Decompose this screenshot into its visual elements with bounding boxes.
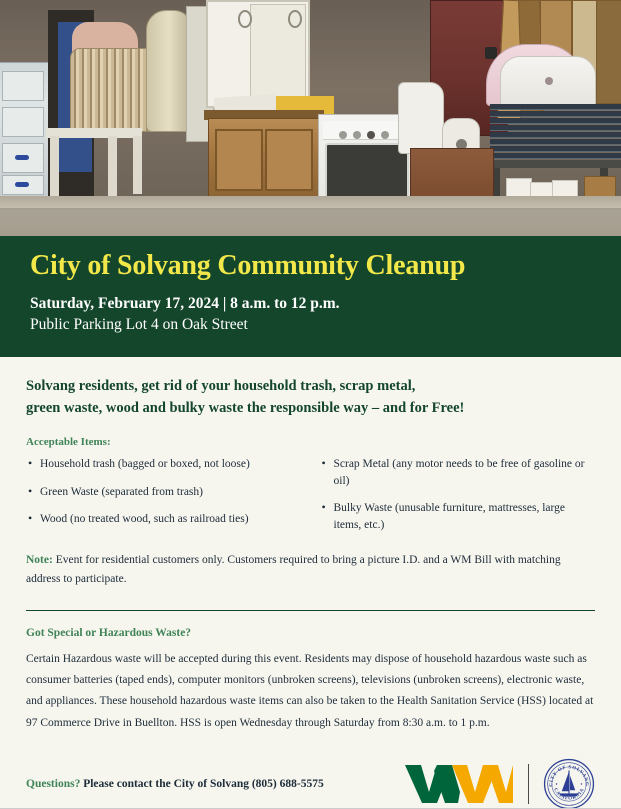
photo-table-leg bbox=[133, 136, 142, 194]
footer-logos: CITY OF SOLVANG CALIFORNIA bbox=[404, 758, 595, 809]
photo-table-leg bbox=[108, 136, 117, 196]
acceptable-items-right-column: Scrap Metal (any motor needs to be free … bbox=[320, 456, 596, 545]
questions-text: Please contact the City of Solvang (805)… bbox=[83, 778, 324, 790]
acceptable-items-right-list: Scrap Metal (any motor needs to be free … bbox=[320, 456, 596, 534]
list-item: Household trash (bagged or boxed, not lo… bbox=[26, 456, 302, 473]
section-divider bbox=[26, 610, 595, 611]
acceptable-items-left-column: Household trash (bagged or boxed, not lo… bbox=[26, 456, 302, 545]
photo-bench-top bbox=[484, 160, 621, 168]
list-item: Bulky Waste (unusable furniture, mattres… bbox=[320, 500, 596, 533]
event-location: Public Parking Lot 4 on Oak Street bbox=[30, 315, 591, 336]
photo-table-leg bbox=[50, 136, 59, 196]
event-datetime: Saturday, February 17, 2024 | 8 a.m. to … bbox=[30, 294, 591, 315]
hazardous-waste-body: Certain Hazardous waste will be accepted… bbox=[26, 649, 595, 734]
page-title: City of Solvang Community Cleanup bbox=[30, 250, 591, 282]
note-label: Note: bbox=[26, 554, 53, 566]
flyer-page: City of Solvang Community Cleanup Saturd… bbox=[0, 0, 621, 809]
acceptable-items-heading: Acceptable Items: bbox=[26, 436, 595, 448]
acceptable-items-columns: Household trash (bagged or boxed, not lo… bbox=[26, 456, 595, 545]
photo-white-table-top bbox=[46, 128, 142, 138]
photo-stacked-panels bbox=[490, 104, 621, 160]
wm-logo bbox=[404, 761, 514, 807]
lede-line-2: green waste, wood and bulky waste the re… bbox=[26, 397, 595, 419]
list-item: Green Waste (separated from trash) bbox=[26, 484, 302, 501]
photo-wooden-cabinet bbox=[208, 118, 320, 198]
acceptable-items-left-list: Household trash (bagged or boxed, not lo… bbox=[26, 456, 302, 528]
hazardous-waste-heading: Got Special or Hazardous Waste? bbox=[26, 627, 595, 639]
lede-line-1: Solvang residents, get rid of your house… bbox=[26, 375, 595, 397]
photo-wire-hook bbox=[288, 10, 302, 28]
questions-line: Questions? Please contact the City of So… bbox=[26, 778, 404, 790]
photo-blue-dresser bbox=[0, 62, 50, 198]
flyer-footer: Questions? Please contact the City of So… bbox=[0, 734, 621, 809]
photo-white-sink bbox=[398, 82, 444, 154]
questions-label: Questions? bbox=[26, 778, 80, 790]
note-text: Event for residential customers only. Cu… bbox=[26, 554, 561, 586]
photo-wire-hook bbox=[238, 10, 252, 28]
photo-leaning-plank bbox=[596, 0, 621, 104]
bulky-waste-photo-scene bbox=[0, 0, 621, 236]
photo-ground-shadow bbox=[0, 208, 621, 236]
logo-divider bbox=[528, 764, 529, 804]
list-item: Wood (no treated wood, such as railroad … bbox=[26, 511, 302, 528]
list-item: Scrap Metal (any motor needs to be free … bbox=[320, 456, 596, 489]
note-paragraph: Note: Event for residential customers on… bbox=[26, 551, 595, 590]
title-banner: City of Solvang Community Cleanup Saturd… bbox=[0, 236, 621, 357]
photo-white-basin bbox=[500, 56, 596, 106]
flyer-body: Solvang residents, get rid of your house… bbox=[0, 357, 621, 734]
lede-paragraph: Solvang residents, get rid of your house… bbox=[26, 375, 595, 420]
header-photo bbox=[0, 0, 621, 236]
city-of-solvang-seal: CITY OF SOLVANG CALIFORNIA bbox=[543, 758, 595, 809]
